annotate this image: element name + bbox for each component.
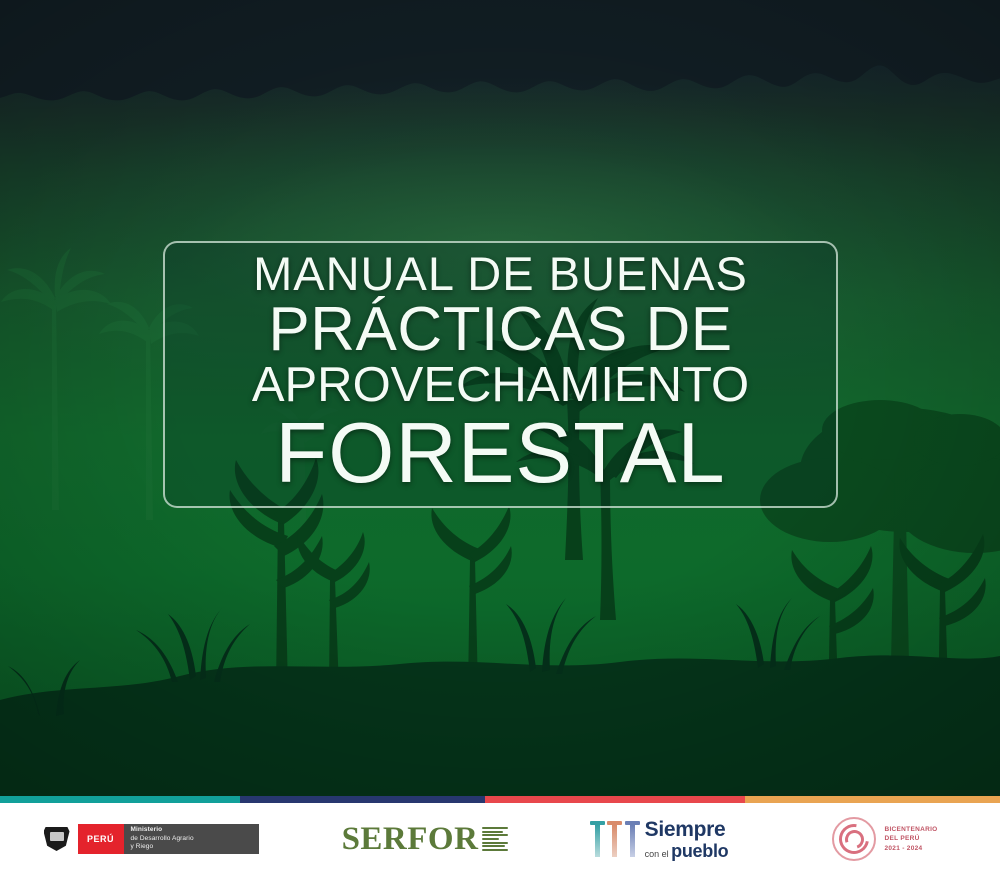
book-cover: MANUAL DE BUENAS PRÁCTICAS DE APROVECHAM… — [0, 0, 1000, 875]
siempre-line-1: Siempre — [645, 819, 729, 840]
institutional-color-bar — [0, 796, 1000, 803]
serfor-wordmark: SERFOR — [342, 821, 479, 858]
logo-bicentenario: BICENTENARIO DEL PERÚ 2021 - 2024 — [770, 803, 1000, 875]
title-line-3: APROVECHAMIENTO — [252, 361, 749, 410]
midagri-line-1: Ministerio — [131, 826, 259, 835]
peru-wordmark: PERÚ — [78, 824, 124, 854]
title-line-4: FORESTAL — [275, 411, 725, 496]
bicentenario-spiral-icon — [832, 817, 876, 861]
title-plate: MANUAL DE BUENAS PRÁCTICAS DE APROVECHAM… — [163, 241, 838, 508]
logo-serfor: SERFOR — [300, 803, 550, 875]
footer-logo-strip: PERÚ Ministerio de Desarrollo Agrario y … — [0, 803, 1000, 875]
midagri-line-2: de Desarrollo Agrario — [131, 835, 259, 844]
bicentenario-line-1: BICENTENARIO — [884, 825, 937, 834]
color-bar-segment-red — [485, 796, 745, 803]
title-line-2: PRÁCTICAS DE — [268, 299, 732, 361]
title-line-1: MANUAL DE BUENAS — [253, 250, 748, 297]
serfor-stripes-icon — [482, 827, 508, 851]
logo-siempre-con-el-pueblo: Siempre con el pueblo — [550, 803, 770, 875]
siempre-line-2-small: con el — [645, 849, 669, 859]
color-bar-segment-orange — [745, 796, 1000, 803]
midagri-ministry-name: Ministerio de Desarrollo Agrario y Riego — [124, 824, 259, 854]
peru-coat-of-arms-icon — [42, 825, 72, 853]
rainforest-background: MANUAL DE BUENAS PRÁCTICAS DE APROVECHAM… — [0, 0, 1000, 796]
logo-midagri: PERÚ Ministerio de Desarrollo Agrario y … — [0, 803, 300, 875]
bicentenario-line-2: DEL PERÚ — [884, 834, 937, 843]
color-bar-segment-teal — [0, 796, 240, 803]
bicentenario-line-3: 2021 - 2024 — [884, 844, 937, 853]
columns-icon — [592, 821, 638, 857]
color-bar-segment-navy — [240, 796, 485, 803]
siempre-line-2-bold: pueblo — [671, 841, 728, 861]
midagri-line-3: y Riego — [131, 843, 259, 852]
